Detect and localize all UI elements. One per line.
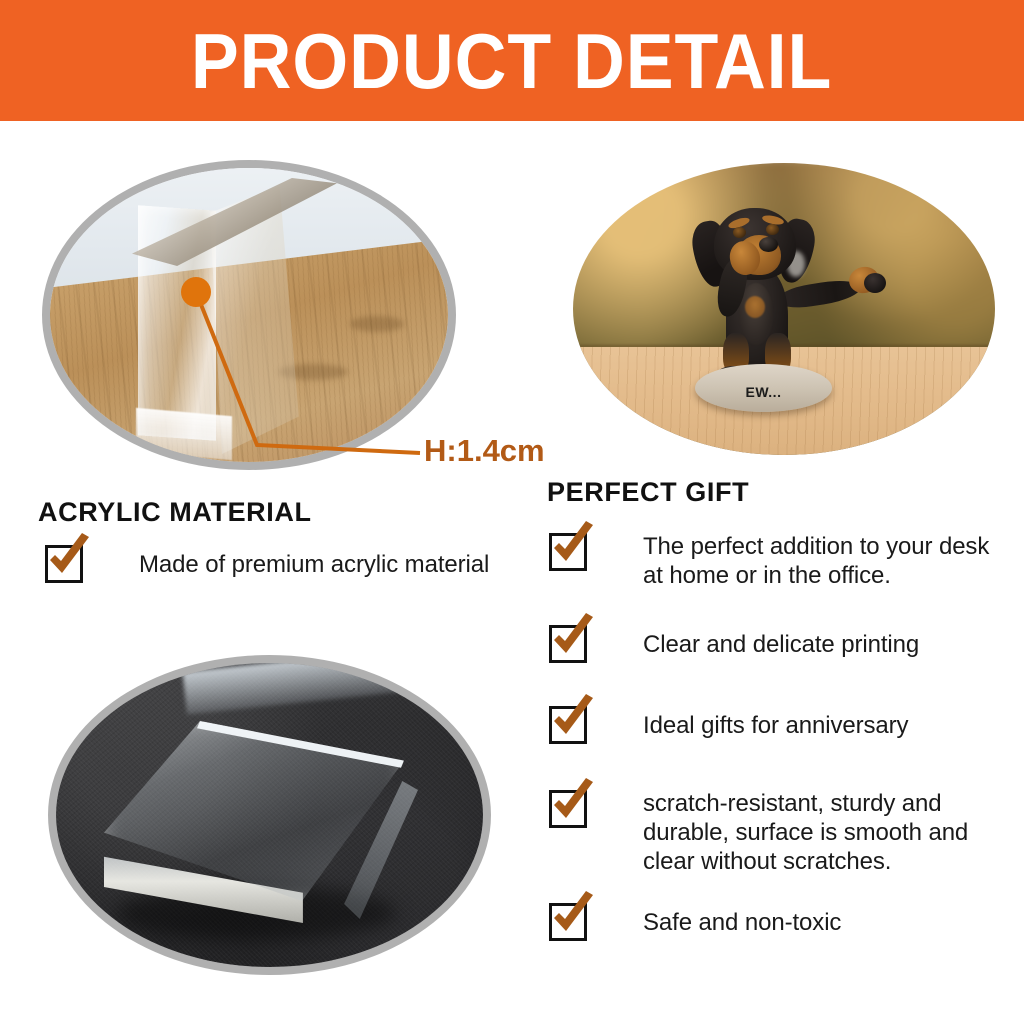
- figurine-right-eye: [766, 224, 779, 235]
- section-heading-acrylic-material: ACRYLIC MATERIAL: [38, 497, 312, 528]
- feature-row: Ideal gifts for anniversary: [549, 706, 1001, 744]
- page-title: PRODUCT DETAIL: [191, 22, 832, 100]
- checkbox-icon[interactable]: [549, 790, 587, 828]
- feature-text: Safe and non-toxic: [643, 903, 841, 938]
- section-heading-perfect-gift: PERFECT GIFT: [547, 477, 749, 508]
- acrylic-edge-scene: [50, 168, 448, 462]
- feature-text: scratch-resistant, sturdy and durable, s…: [643, 790, 1001, 876]
- checkmark-icon: [546, 694, 600, 748]
- figurine-nose: [759, 237, 778, 252]
- figurine-left-eye: [733, 227, 746, 238]
- checkmark-icon: [546, 521, 600, 575]
- acrylic-block-photo: [48, 655, 491, 975]
- feature-row: Safe and non-toxic: [549, 903, 1001, 941]
- dog-figurine-photo: EW...: [573, 163, 995, 455]
- checkbox-icon[interactable]: [45, 545, 83, 583]
- feature-text: Clear and delicate printing: [643, 625, 919, 660]
- checkbox-icon[interactable]: [549, 533, 587, 571]
- thickness-label: H:1.4cm: [424, 433, 545, 469]
- checkbox-icon[interactable]: [549, 903, 587, 941]
- checkmark-icon: [546, 891, 600, 945]
- feature-row: Made of premium acrylic material: [45, 545, 515, 583]
- feature-text: Ideal gifts for anniversary: [643, 706, 908, 741]
- acrylic-slab-base-glow: [136, 408, 232, 460]
- feature-text: The perfect addition to your desk at hom…: [643, 533, 1001, 591]
- acrylic-edge-photo: [42, 160, 456, 470]
- checkbox-icon[interactable]: [549, 706, 587, 744]
- figurine-chest-marking: [745, 296, 765, 318]
- feature-row: scratch-resistant, sturdy and durable, s…: [549, 790, 1001, 876]
- figurine-extended-fist: [864, 273, 886, 293]
- figurine-base-text: EW...: [695, 384, 832, 400]
- feature-row: The perfect addition to your desk at hom…: [549, 533, 1001, 591]
- checkmark-icon: [546, 613, 600, 667]
- checkbox-icon[interactable]: [549, 625, 587, 663]
- checkmark-icon: [42, 533, 96, 587]
- feature-row: Clear and delicate printing: [549, 625, 1001, 663]
- checkmark-icon: [546, 778, 600, 832]
- wood-knot: [350, 316, 404, 332]
- feature-text: Made of premium acrylic material: [139, 545, 489, 580]
- header-banner: PRODUCT DETAIL: [0, 0, 1024, 121]
